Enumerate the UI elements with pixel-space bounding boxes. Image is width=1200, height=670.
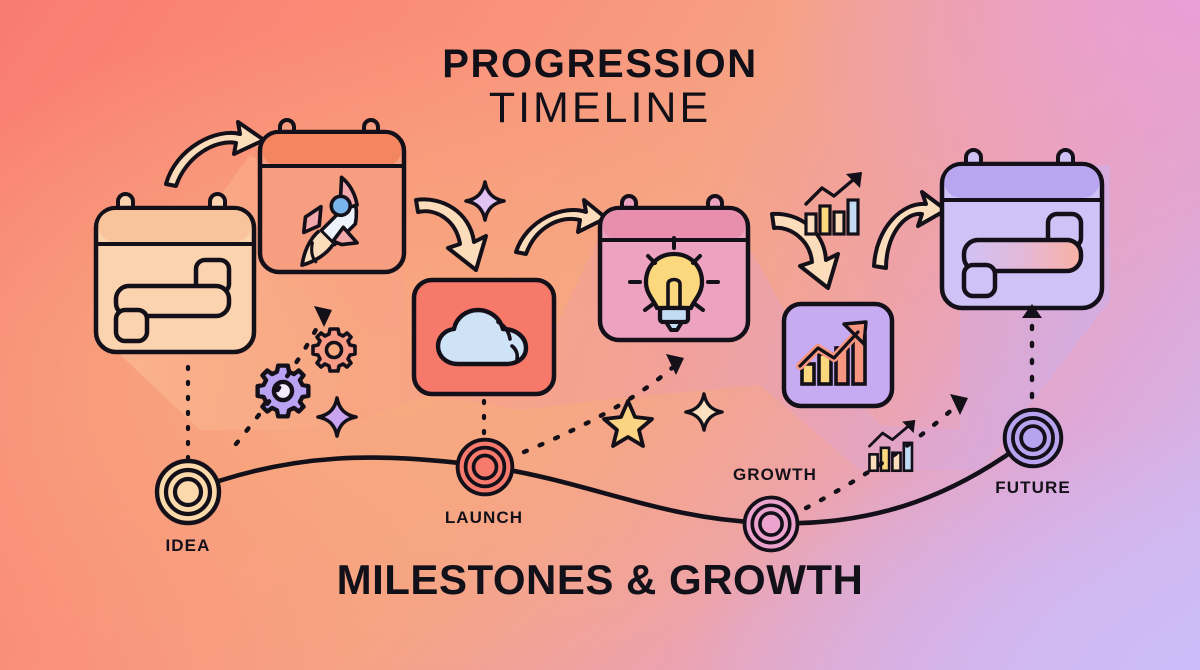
milestone-node-idea[interactable] [154,458,222,526]
milestone-node-future[interactable] [1002,407,1064,469]
footer-title: MILESTONES & GROWTH [0,556,1200,604]
milestone-label-launch: LAUNCH [445,508,523,528]
milestone-path [188,437,1032,523]
milestone-label-future: FUTURE [995,478,1071,498]
infographic-canvas: IDEA LAUNCH GROWTH FUTURE PROGRESSION TI… [0,0,1200,670]
milestone-node-launch[interactable] [455,437,515,497]
milestone-label-growth: GROWTH [733,465,817,485]
milestone-node-growth[interactable] [742,495,800,553]
milestone-label-idea: IDEA [165,536,210,556]
